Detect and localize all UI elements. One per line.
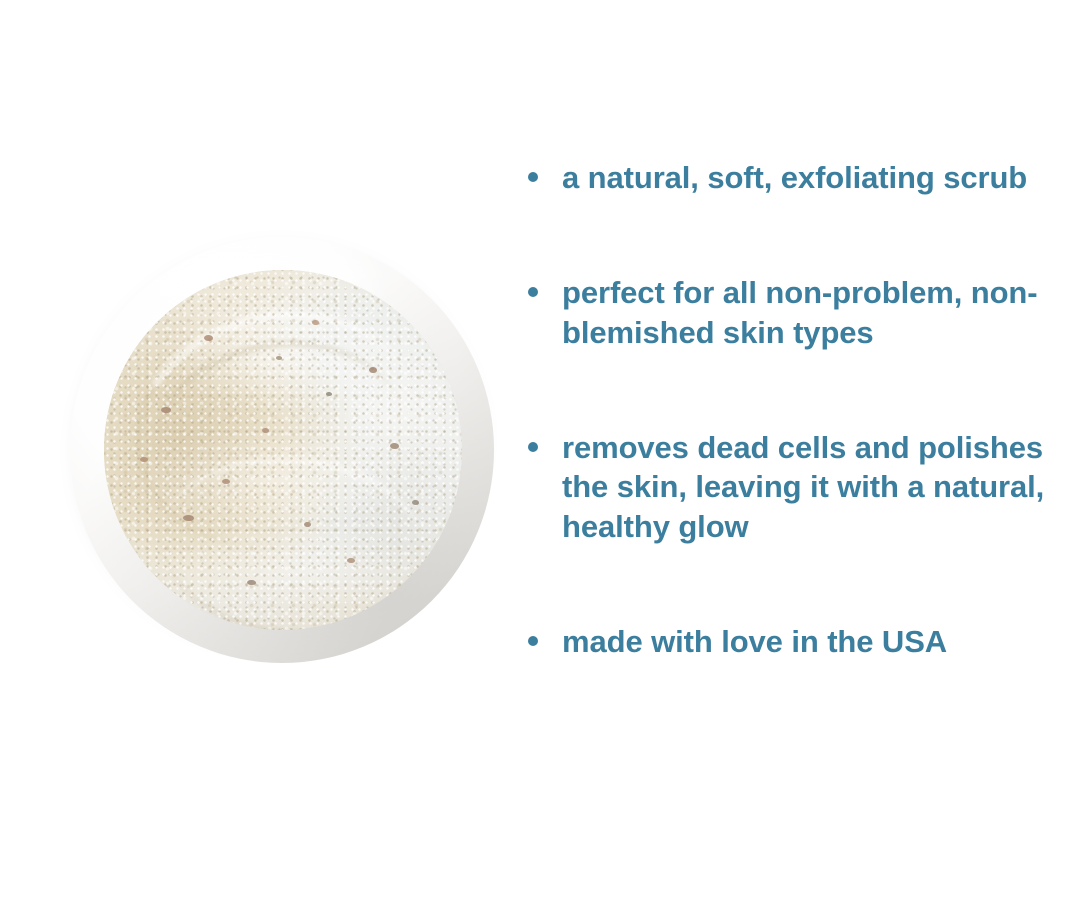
benefit-text: removes dead cells and polishes the skin… [562,428,1048,546]
scrub-fleck [161,407,171,413]
bullet-point-icon [528,636,538,646]
product-image [62,228,502,676]
bullet-point-icon [528,287,538,297]
scrub-fleck [183,515,194,521]
jar-opening [104,270,462,630]
scrub-fleck [369,367,377,373]
benefit-item: made with love in the USA [528,622,1048,661]
benefit-item: removes dead cells and polishes the skin… [528,428,1048,546]
scrub-fleck [247,580,256,585]
benefits-list: a natural, soft, exfoliating scrub perfe… [528,158,1048,662]
benefit-text: perfect for all non-problem, non-blemish… [562,273,1048,352]
benefit-text: a natural, soft, exfoliating scrub [562,158,1048,197]
scrub-granule-texture-coarse [104,270,462,630]
bullet-point-icon [528,442,538,452]
benefit-text: made with love in the USA [562,622,1048,661]
scrub-fleck [390,443,399,449]
scrub-fleck [140,457,148,462]
product-feature-panel: a natural, soft, exfoliating scrub perfe… [0,0,1069,913]
benefit-item: a natural, soft, exfoliating scrub [528,158,1048,197]
bullet-point-icon [528,172,538,182]
benefit-item: perfect for all non-problem, non-blemish… [528,273,1048,352]
scrub-fleck [204,335,213,341]
scrub-fleck [222,479,230,484]
